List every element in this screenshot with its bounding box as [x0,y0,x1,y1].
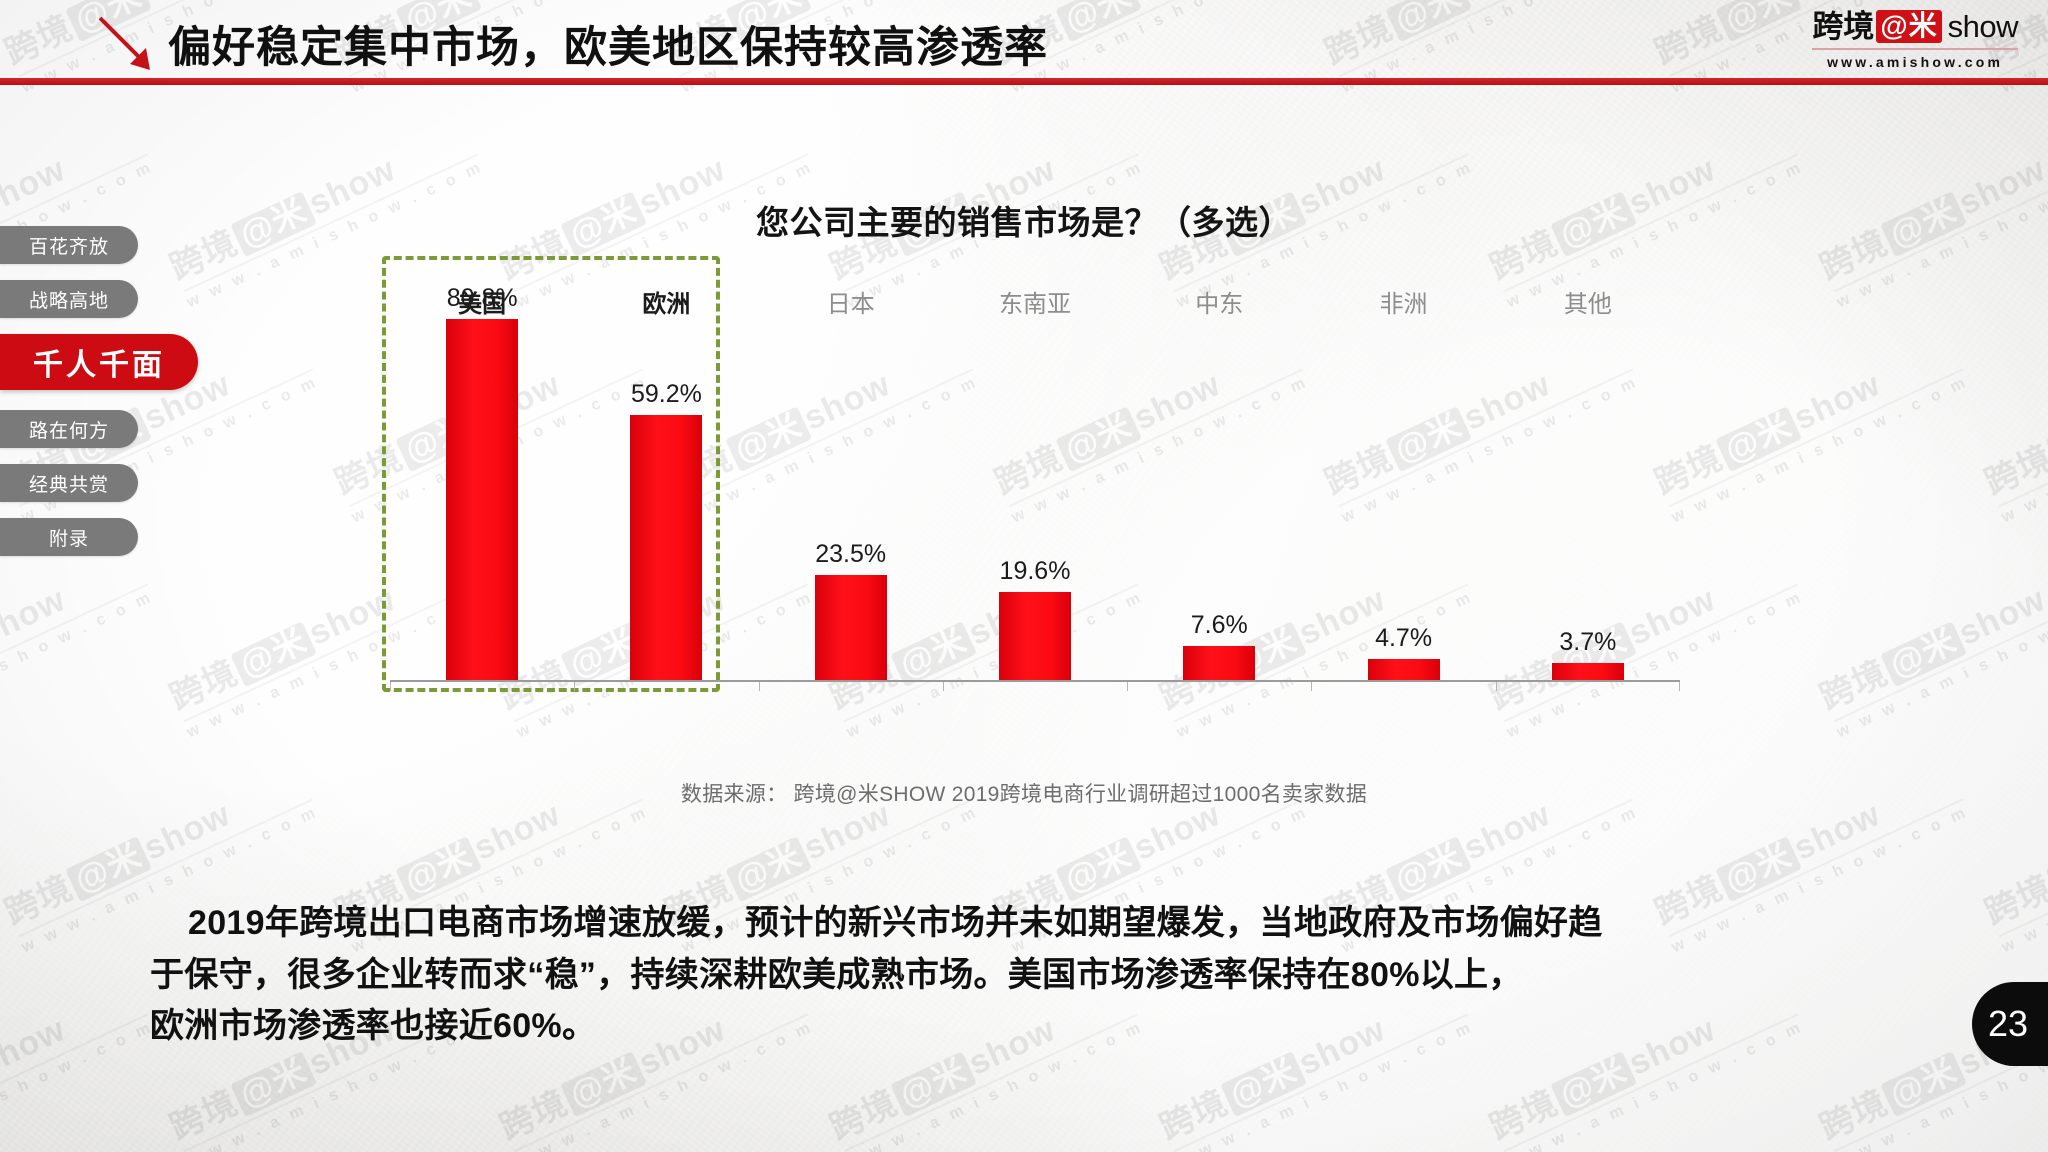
brand-url: www.amishow.com [1812,54,2018,70]
header-accent-rule [0,78,2048,85]
chart-bar [1368,659,1440,680]
sidebar-item-label: 经典共赏 [29,470,109,497]
body-line-3: 欧洲市场渗透率也接近60%。 [150,1001,1920,1053]
chart-category-label: 日本 [761,284,941,319]
chart-source-note: 数据来源： 跨境@米SHOW 2019跨境电商行业调研超过1000名卖家数据 [0,778,2048,808]
sidebar-item-label: 附录 [49,524,89,551]
page-title: 偏好稳定集中市场，欧美地区保持较高渗透率 [168,13,1048,75]
chart-axis-tick [943,682,944,691]
brand-name-cn: 跨境 [1812,11,1874,42]
chart-axis-tick [1127,682,1128,691]
brand-logo-row: 跨境 @米 show [1812,10,2018,43]
chart-axis-tick [574,682,575,691]
sidebar-item-label: 千人千面 [33,340,165,384]
chart-bar [630,415,702,680]
chart-axis-tick [759,682,760,691]
chart-bar-value-label: 3.7% [1498,628,1678,657]
chart-bar [1183,646,1255,680]
sidebar-item-3[interactable]: 千人千面 [0,334,198,390]
chart-axis-tick [1496,682,1497,691]
sidebar-item-5[interactable]: 经典共赏 [0,464,138,502]
sidebar-item-6[interactable]: 附录 [0,518,138,556]
sidebar-nav[interactable]: 百花齐放战略高地千人千面路在何方经典共赏附录 [0,226,198,572]
body-line-2: 于保守，很多企业转而求“稳”，持续深耕欧美成熟市场。美国市场渗透率保持在80%以… [150,950,1920,1002]
chart-bar [999,592,1071,680]
sidebar-item-label: 战略高地 [29,286,109,313]
chart-bar-value-label: 23.5% [761,540,941,569]
chart-category-label: 欧洲 [576,284,756,319]
chart-axis-tick [1679,682,1680,691]
diagonal-arrow-down-right-icon [96,14,160,72]
chart-title: 您公司主要的销售市场是？（多选） [0,196,2048,244]
chart-bar-value-label: 4.7% [1314,624,1494,653]
chart-bar [1552,663,1624,680]
brand-name-show: show [1948,11,2018,42]
brand-mark-icon: @米 [1876,10,1941,43]
chart-category-label: 中东 [1129,284,1309,319]
page-number-badge: 23 [1972,982,2048,1066]
body-line-1: 2019年跨境出口电商市场增速放缓，预计的新兴市场并未如期望爆发，当地政府及市场… [150,898,1920,950]
body-paragraph: 2019年跨境出口电商市场增速放缓，预计的新兴市场并未如期望爆发，当地政府及市场… [150,898,1920,1053]
chart-bar-value-label: 59.2% [576,380,756,409]
bar-chart: 80.8%美国59.2%欧洲23.5%日本19.6%东南亚7.6%中东4.7%非… [390,262,1680,682]
brand-divider [1812,48,2018,50]
chart-axis-tick [390,682,391,691]
chart-x-axis [390,680,1680,682]
chart-category-label: 东南亚 [945,284,1125,319]
slide-header: 偏好稳定集中市场，欧美地区保持较高渗透率 [0,0,2048,78]
sidebar-item-2[interactable]: 战略高地 [0,280,138,318]
chart-category-label: 美国 [392,284,572,319]
chart-bar-value-label: 19.6% [945,557,1125,586]
chart-bar [446,319,518,680]
chart-category-label: 其他 [1498,284,1678,319]
sidebar-item-4[interactable]: 路在何方 [0,410,138,448]
chart-bar-value-label: 7.6% [1129,611,1309,640]
brand-logo: 跨境 @米 show www.amishow.com [1812,10,2018,70]
sidebar-item-label: 路在何方 [29,416,109,443]
chart-bar [815,575,887,680]
chart-axis-tick [1311,682,1312,691]
chart-category-label: 非洲 [1314,284,1494,319]
